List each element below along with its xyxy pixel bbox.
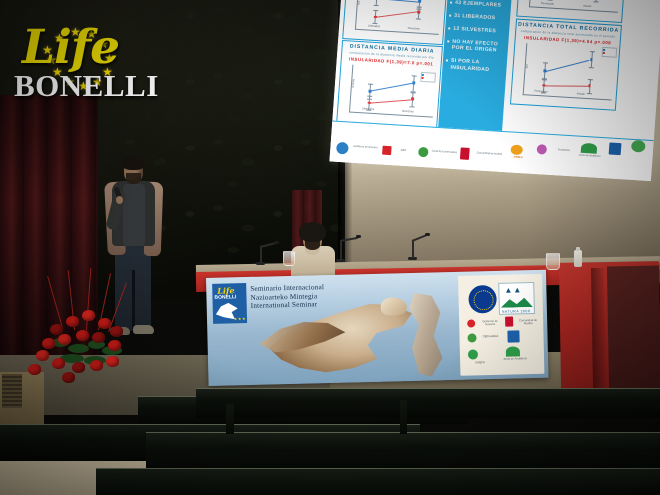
chart-xtick-left: Peninsular (541, 1, 554, 6)
table-cloth-shadowed (607, 266, 660, 391)
sponsor-label: Junta de Andalucía (576, 153, 602, 158)
banner-sponsor-label: Comunidad de Madrid (515, 319, 541, 326)
sponsor-mark (507, 330, 519, 342)
sponsor-label: Junta de Extremadura (430, 150, 458, 155)
conference-photo: Life BONELLI ★★★ ▲▲ NATURA 2000 DISPERSI… (0, 0, 660, 495)
banner-sponsor-label: Junta de Andalucía (502, 357, 528, 361)
natura2000-birds-icon: ▲▲ (504, 285, 522, 294)
natura2000-caption: NATURA 2000 (502, 309, 531, 314)
stage-step-edge-highlight (0, 424, 420, 425)
slide-content: Life BONELLI ★★★ ▲▲ NATURA 2000 DISPERSI… (329, 0, 660, 181)
slide-bullet-item: 31 LIBERADOS (454, 12, 507, 22)
chart-xtick-left: Liberados (362, 106, 375, 111)
eagle-head (381, 297, 407, 316)
speaker-hair (122, 156, 145, 170)
banner-life-bonelli-logo: Life BONELLI ★★★ (212, 283, 247, 324)
stage-platform-edge-highlight (196, 388, 660, 389)
perch-photo (402, 292, 456, 377)
chart-ylabel: Km (525, 64, 529, 68)
chart-xtick-right: Insular (577, 91, 586, 96)
bottle-cap (576, 247, 580, 251)
chart-ylabel: Km/día (351, 79, 356, 88)
chart-panel-distancia-total-recorrida: DISTANCIA TOTAL RECORRIDA comparación de… (510, 19, 622, 111)
banner-sponsor-label: CBD Hábitat (478, 335, 502, 339)
chart-panel-distancia-media-diaria: DISTANCIA MEDIA DIARIA comparación de la… (336, 40, 443, 128)
chart-plot-area: Km Liberados Silvestres (355, 0, 442, 35)
banner-sponsor-block: ▲▲ NATURA 2000 Gobierno de Navarra Comun… (458, 274, 544, 376)
slide-bullet-item: 43 EJEMPLARES (455, 0, 508, 9)
sponsor-mark (609, 142, 622, 155)
speaker-hand (116, 196, 123, 204)
chart-xtick-right: Insular (583, 4, 592, 9)
chart-legend (602, 47, 618, 58)
sponsor-mark (505, 317, 513, 327)
eu-flag-icon (468, 285, 497, 314)
natura2000-hill-icon (501, 296, 533, 308)
sponsor-label: Gobierno de Navarra (350, 145, 380, 150)
banner-logo-bonelli-text: BONELLI (214, 294, 236, 301)
chart-plot-area: Km² Peninsular Insular (529, 0, 621, 13)
life-bonelli-watermark: ★ ★ ★ ★ ★ ★ ★ ★ ★ ★ ★ ★ Life BONELLI (8, 14, 158, 109)
sponsor-label: GREFA (506, 155, 530, 159)
chart-xtick-left: Peninsular (534, 89, 547, 94)
speaker-shirt (123, 184, 145, 246)
banner-sponsor-label: Gobierno de Navarra (477, 320, 503, 327)
sponsor-label: Comunidad de Madrid (471, 151, 507, 156)
stage-step-edge-highlight (96, 468, 660, 469)
event-banner: Life BONELLI ★★★ Seminario Internacional… (206, 270, 549, 386)
sponsor-label: Fundación (549, 148, 579, 153)
sponsor-mark (506, 346, 520, 356)
chart-xtick-right: Silvestres (407, 26, 419, 31)
slide-bullet-item: SI POR LA INSULARIDAD (450, 58, 504, 74)
sponsor-mark (382, 146, 392, 156)
water-glass (283, 251, 295, 266)
sponsor-mark (631, 140, 646, 153)
sponsor-mark (336, 142, 349, 155)
sponsor-mark (418, 147, 429, 158)
projection-screen: Life BONELLI ★★★ ▲▲ NATURA 2000 DISPERSI… (329, 0, 660, 181)
table-cloth-fold (591, 268, 606, 388)
sponsor-mark (467, 333, 476, 342)
banner-logo-eu-stars-icon: ★★★ (234, 316, 246, 321)
chart-xtick-right: Silvestres (402, 109, 414, 114)
table-microphone-stand (340, 240, 342, 260)
sponsor-mark (467, 319, 475, 327)
banner-natura2000-logo: ▲▲ NATURA 2000 (498, 282, 535, 315)
slide-bullet-item: 12 SILVESTRES (453, 25, 506, 35)
stage-step-bottom (96, 468, 660, 495)
chart-panel-dispersion: DISPERSIÓN comparación entre ejemplares … (342, 0, 449, 45)
banner-title-block: Seminario Internacional Nazioarteko Mint… (250, 283, 324, 310)
sponsor-mark (460, 147, 470, 160)
panelist-hair (299, 222, 326, 242)
sponsor-mark (468, 349, 478, 359)
chart-xtick-left: Liberados (368, 24, 381, 29)
chart-ylabel: Km (357, 1, 361, 5)
sponsor-mark (510, 144, 523, 155)
table-microphone-stand (412, 240, 414, 258)
banner-title-en: International Seminar (251, 300, 325, 310)
table-microphone-stand (260, 246, 262, 263)
sponsor-label: CBD (392, 148, 414, 152)
slide-bullet-panel: 1º AÑO EMANCIPACIÓN DATOS FILTRADOS 43 E… (438, 0, 514, 132)
slide-bullet-item: NO HAY EFECTO POR EL ORIGEN (452, 38, 506, 54)
watermark-bonelli-text: BONELLI (14, 68, 159, 104)
stage-support-leg (400, 400, 407, 434)
sponsor-mark (536, 144, 547, 155)
water-glass (546, 253, 560, 270)
flower-arrangement (22, 268, 142, 386)
stage-support-leg (226, 404, 234, 434)
watermark-life-text: Life (22, 20, 119, 75)
stage-platform-right-upper-riser (196, 402, 660, 418)
wall-vent-grill (2, 374, 22, 408)
speaker-beard (126, 173, 141, 184)
chart-legend (420, 72, 436, 83)
banner-sponsor-label: GREFA (466, 361, 494, 365)
sponsor-mark (581, 143, 598, 154)
water-bottle (574, 250, 582, 267)
